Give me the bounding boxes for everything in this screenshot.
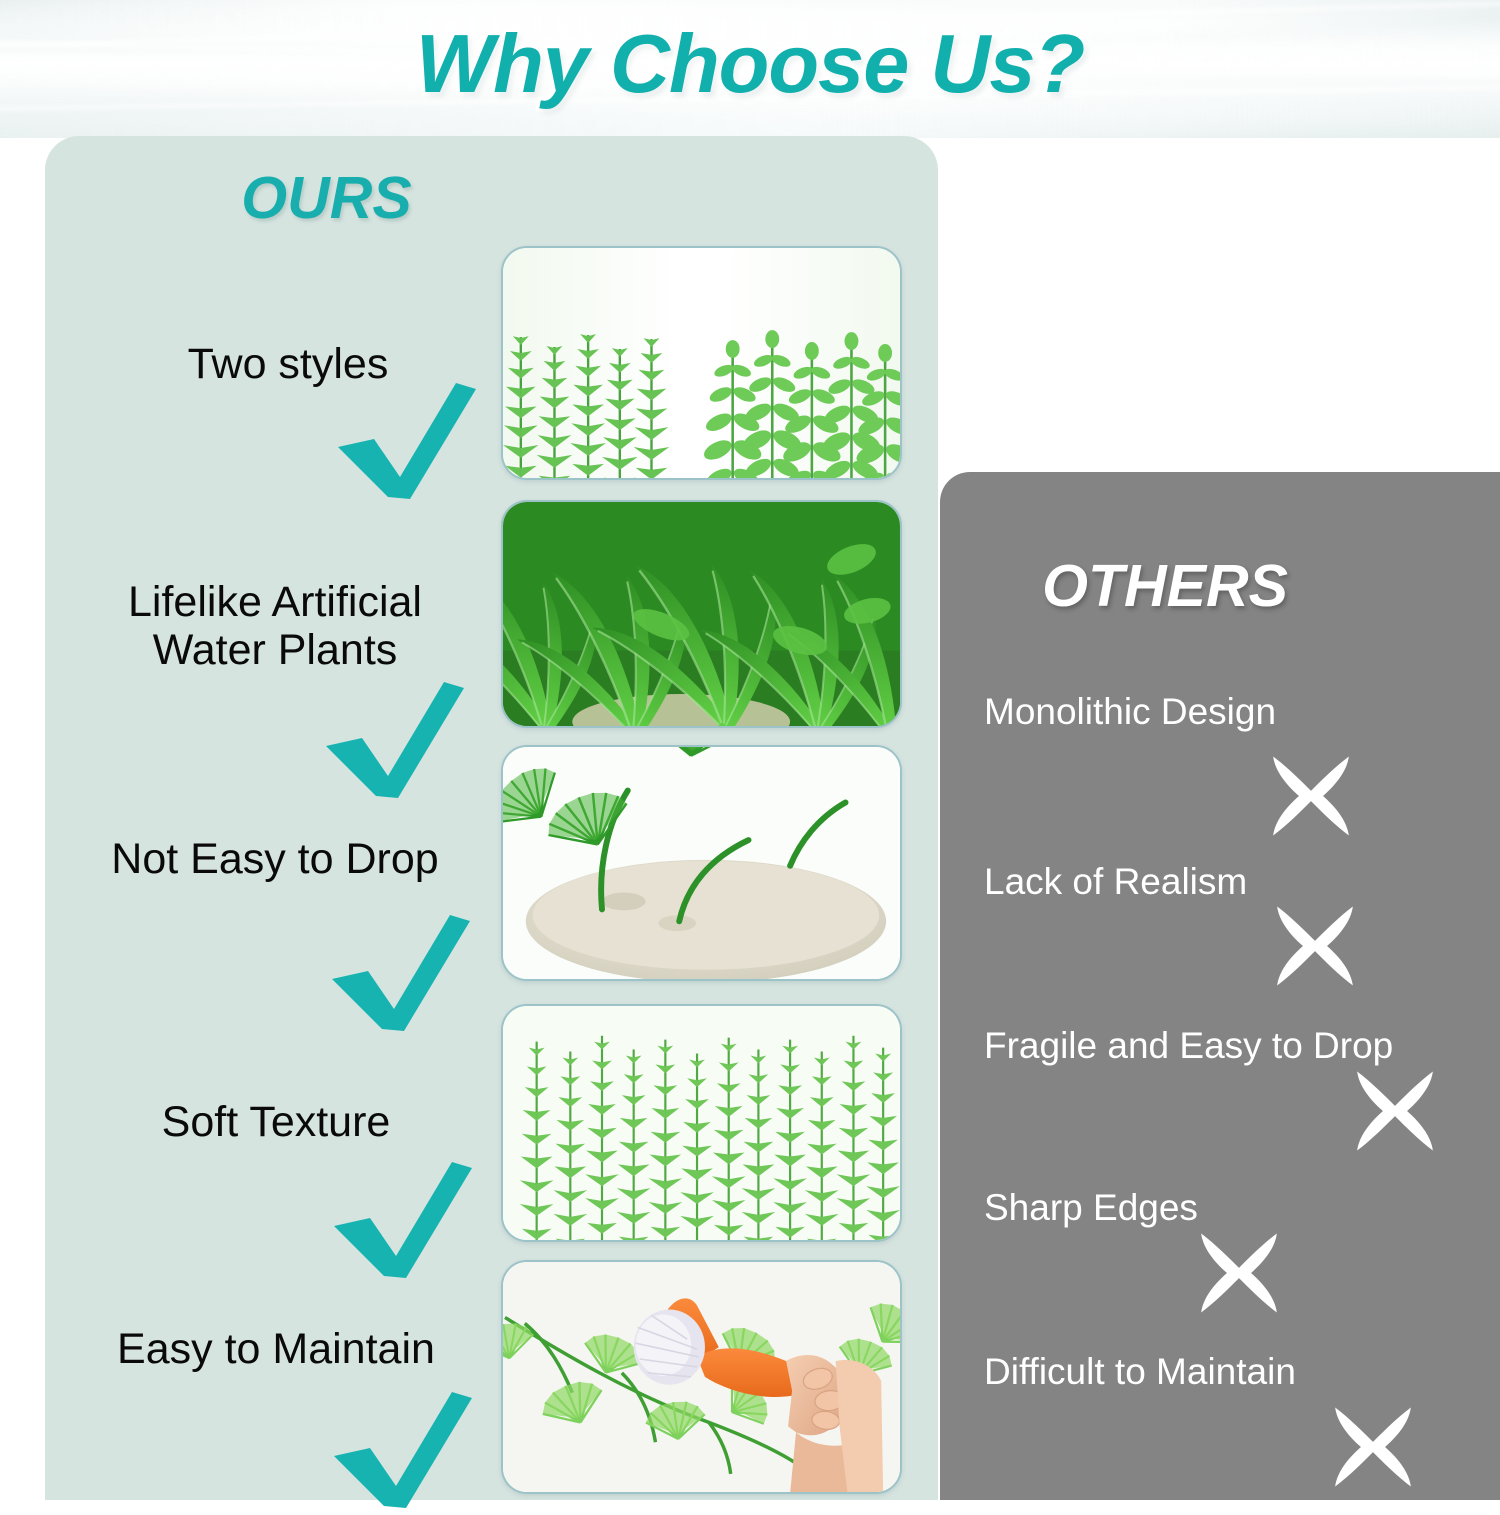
ours-heading: OURS [45, 164, 938, 232]
others-item-label-0: Monolithic Design [984, 692, 1276, 733]
others-item-label-3: Sharp Edges [984, 1188, 1198, 1229]
others-heading: OTHERS [940, 552, 1500, 620]
ours-item-photo-3 [501, 1004, 902, 1242]
cross-icon-4 [1330, 1404, 1416, 1490]
check-icon-0 [330, 381, 480, 501]
check-icon-4 [326, 1390, 476, 1505]
check-icon-1 [318, 680, 468, 800]
ours-item-label-3: Soft Texture [76, 1098, 476, 1146]
others-item-label-4: Difficult to Maintain [984, 1352, 1296, 1393]
ours-item-label-2: Not Easy to Drop [70, 835, 480, 883]
ours-item-label-4: Easy to Maintain [66, 1325, 486, 1373]
ours-item-label-1: Lifelike Artificial Water Plants [60, 578, 490, 674]
cross-icon-1 [1272, 903, 1358, 989]
cross-icon-3 [1196, 1230, 1282, 1316]
others-item-label-2: Fragile and Easy to Drop [984, 1026, 1393, 1067]
ours-item-photo-1 [501, 500, 902, 728]
ours-item-photo-0 [501, 246, 902, 480]
ours-item-photo-2 [501, 745, 902, 981]
ours-item-photo-4 [501, 1260, 902, 1494]
cross-icon-0 [1268, 753, 1354, 839]
page-title: Why Choose Us? [0, 16, 1500, 112]
check-icon-2 [324, 913, 474, 1033]
check-icon-3 [326, 1160, 476, 1280]
others-item-label-1: Lack of Realism [984, 862, 1247, 903]
cross-icon-2 [1352, 1068, 1438, 1154]
others-panel: OTHERS [940, 472, 1500, 1500]
